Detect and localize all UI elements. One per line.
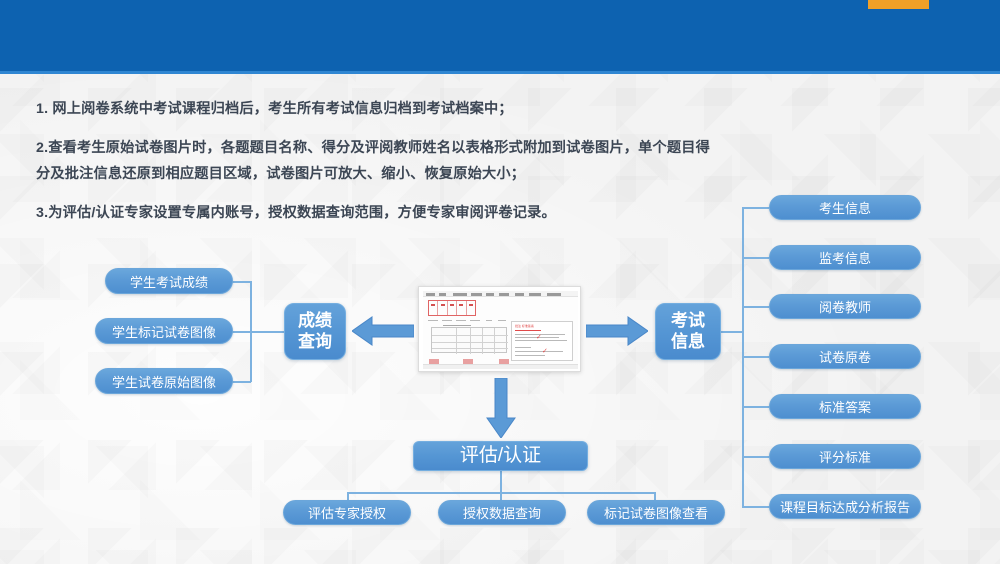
node-left-3[interactable]: 学生试卷原始图像 bbox=[95, 368, 233, 394]
slide-root: 考试档案管理 1. 网上阅卷系统中考试课程归档后，考生所有考试信息归档到考试档案… bbox=[0, 0, 1000, 564]
bullet-paragraph-1: 1. 网上阅卷系统中考试课程归档后，考生所有考试信息归档到考试档案中； bbox=[36, 96, 716, 122]
connector-right-3 bbox=[742, 306, 769, 308]
hub-node-score-query[interactable]: 成绩 查询 bbox=[284, 303, 346, 360]
connector-right-4 bbox=[742, 356, 769, 358]
connector-right-1 bbox=[742, 207, 769, 209]
node-right-5-label: 标准答案 bbox=[819, 397, 871, 416]
node-bottom-2-label: 授权数据查询 bbox=[463, 503, 541, 522]
node-right-3[interactable]: 阅卷教师 bbox=[769, 294, 921, 319]
node-bottom-3-label: 标记试卷图像查看 bbox=[604, 503, 708, 522]
hub-node-evaluation-certification[interactable]: 评估/认证 bbox=[413, 441, 588, 471]
node-bottom-1-label: 评估专家授权 bbox=[308, 503, 386, 522]
exam-paper-preview-inner: 批注 标准答案 ✓ ✓ bbox=[423, 291, 578, 369]
node-right-4[interactable]: 试卷原卷 bbox=[769, 344, 921, 369]
node-bottom-2[interactable]: 授权数据查询 bbox=[438, 500, 566, 525]
node-left-1-label: 学生考试成绩 bbox=[130, 272, 208, 291]
arrow-right bbox=[586, 315, 648, 347]
node-right-3-label: 阅卷教师 bbox=[819, 297, 871, 316]
node-right-5[interactable]: 标准答案 bbox=[769, 394, 921, 419]
node-right-7[interactable]: 课程目标达成分析报告 bbox=[769, 494, 921, 519]
arrow-left bbox=[352, 315, 414, 347]
connector-left-spine-to-hub bbox=[250, 331, 284, 333]
node-right-6[interactable]: 评分标准 bbox=[769, 444, 921, 469]
connector-right-hub-to-spine bbox=[721, 331, 743, 333]
node-right-2[interactable]: 监考信息 bbox=[769, 245, 921, 270]
arrow-down bbox=[485, 378, 517, 438]
node-right-7-label: 课程目标达成分析报告 bbox=[780, 497, 910, 516]
preview-score-table bbox=[431, 327, 507, 353]
hub-score-query-line1: 成绩 bbox=[298, 311, 332, 331]
preview-score-grid bbox=[428, 300, 476, 316]
hub-node-exam-info[interactable]: 考试 信息 bbox=[655, 303, 721, 360]
header-band bbox=[0, 0, 1000, 71]
hub-evaluation-label: 评估/认证 bbox=[460, 445, 541, 467]
node-left-2-label: 学生标记试卷图像 bbox=[112, 322, 216, 341]
preview-footer bbox=[423, 364, 578, 369]
node-right-1-label: 考生信息 bbox=[819, 198, 871, 217]
node-right-1[interactable]: 考生信息 bbox=[769, 195, 921, 220]
node-left-3-label: 学生试卷原始图像 bbox=[112, 372, 216, 391]
bullet-paragraph-3: 3.为评估/认证专家设置专属内账号，授权数据查询范围，方便专家审阅评卷记录。 bbox=[36, 200, 716, 226]
connector-left-top bbox=[232, 281, 251, 283]
node-left-1[interactable]: 学生考试成绩 bbox=[105, 268, 233, 294]
connector-right-7 bbox=[742, 506, 769, 508]
hub-exam-info-line1: 考试 bbox=[671, 311, 705, 331]
node-bottom-3[interactable]: 标记试卷图像查看 bbox=[587, 500, 725, 525]
hub-exam-info-line2: 信息 bbox=[671, 332, 705, 352]
connector-right-2 bbox=[742, 257, 769, 259]
connector-left-bottom bbox=[232, 381, 251, 383]
preview-annotation-panel: 批注 标准答案 ✓ ✓ bbox=[511, 321, 573, 361]
connector-bottom-stem bbox=[500, 470, 502, 492]
node-right-6-label: 评分标准 bbox=[819, 447, 871, 466]
node-right-4-label: 试卷原卷 bbox=[819, 347, 871, 366]
connector-left-mid bbox=[232, 331, 251, 333]
exam-paper-preview-image[interactable]: 批注 标准答案 ✓ ✓ bbox=[418, 286, 581, 372]
node-left-2[interactable]: 学生标记试卷图像 bbox=[95, 318, 233, 344]
connector-right-6 bbox=[742, 456, 769, 458]
body-text-block: 1. 网上阅卷系统中考试课程归档后，考生所有考试信息归档到考试档案中； 2.查看… bbox=[36, 96, 716, 226]
bullet-paragraph-2: 2.查看考生原始试卷图片时，各题题目名称、得分及评阅教师姓名以表格形式附加到试卷… bbox=[36, 135, 716, 187]
node-right-2-label: 监考信息 bbox=[819, 248, 871, 267]
header-underline bbox=[0, 71, 1000, 74]
hub-score-query-line2: 查询 bbox=[298, 332, 332, 352]
connector-right-5 bbox=[742, 406, 769, 408]
orange-accent-tab bbox=[868, 0, 929, 9]
node-bottom-1[interactable]: 评估专家授权 bbox=[283, 500, 411, 525]
